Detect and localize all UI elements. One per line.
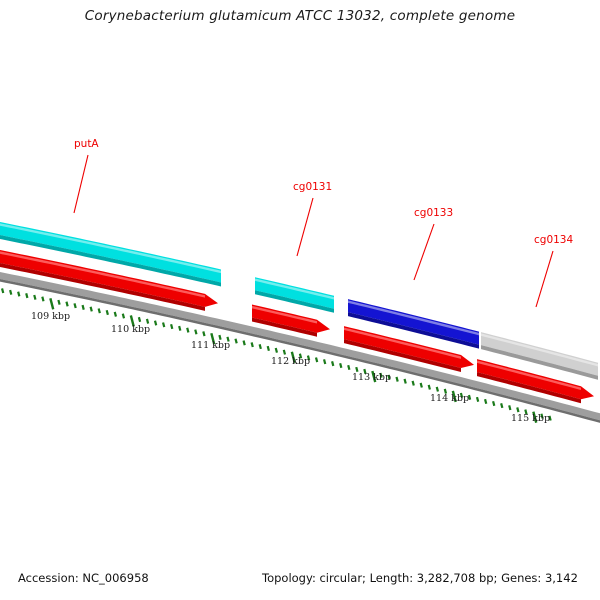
genome-map-canvas[interactable]: putAcg0131cg0133cg0134putAcg0131cg0133cg… bbox=[0, 0, 600, 600]
ruler-tick-minor bbox=[155, 321, 156, 326]
ruler-tick-minor bbox=[485, 399, 486, 404]
ruler-tick-minor bbox=[421, 383, 422, 388]
ruler-tick-minor bbox=[18, 292, 19, 297]
accession-label: Accession: NC_006958 bbox=[18, 571, 149, 585]
ruler-tick-minor bbox=[236, 339, 237, 344]
ruler-tick-minor bbox=[91, 307, 92, 312]
ruler-tick-minor bbox=[34, 295, 35, 300]
genome-viewer: Corynebacterium glutamicum ATCC 13032, c… bbox=[0, 0, 600, 600]
ruler-position-label: 115 kbp bbox=[511, 413, 550, 424]
ruler-position-label: 111 kbp bbox=[191, 340, 230, 351]
ruler-tick-minor bbox=[171, 324, 172, 329]
ruler-tick-major bbox=[50, 298, 53, 309]
ruler-position-label: 112 kbp bbox=[271, 356, 310, 367]
ruler-tick-minor bbox=[316, 357, 317, 362]
ruler-tick-minor bbox=[477, 397, 478, 402]
ruler-tick-minor bbox=[42, 297, 43, 302]
status-bar: Accession: NC_006958 Topology: circular;… bbox=[0, 571, 600, 595]
gene-label-leader bbox=[536, 251, 553, 307]
gene-label[interactable]: cg0133 bbox=[414, 207, 453, 219]
ruler-tick-minor bbox=[139, 317, 140, 322]
ruler-tick-minor bbox=[252, 342, 253, 347]
ruler-tick-minor bbox=[469, 395, 470, 400]
gene-label-leader bbox=[297, 198, 313, 256]
ruler-tick-minor bbox=[348, 365, 349, 370]
ruler-tick-minor bbox=[493, 401, 494, 406]
ruler-tick-minor bbox=[284, 350, 285, 355]
ruler-tick-minor bbox=[179, 326, 180, 331]
ruler-tick-minor bbox=[405, 379, 406, 384]
ruler-tick-minor bbox=[83, 305, 84, 310]
ruler-tick-minor bbox=[260, 344, 261, 349]
ruler-tick-minor bbox=[10, 290, 11, 295]
ruler-tick-minor bbox=[244, 341, 245, 346]
cds-track: putAcg0131cg0133cg0134 bbox=[0, 248, 594, 403]
ruler-tick-minor bbox=[324, 359, 325, 364]
ruler-tick-minor bbox=[99, 309, 100, 314]
gene-label-leader bbox=[74, 155, 88, 213]
ruler-tick-minor bbox=[115, 312, 116, 317]
ruler-tick-minor bbox=[413, 381, 414, 386]
genome-summary-label: Topology: circular; Length: 3,282,708 bp… bbox=[262, 571, 578, 585]
ruler-tick-minor bbox=[332, 361, 333, 366]
ruler-tick-minor bbox=[75, 303, 76, 308]
gene-feature[interactable]: cg0131 bbox=[255, 277, 334, 313]
ruler-tick-minor bbox=[268, 346, 269, 351]
ruler-tick-minor bbox=[509, 405, 510, 410]
ruler-tick-minor bbox=[397, 377, 398, 382]
ruler-tick-minor bbox=[437, 387, 438, 392]
ruler-tick-minor bbox=[501, 403, 502, 408]
gene-label[interactable]: putA bbox=[74, 138, 99, 150]
ruler-tick-minor bbox=[517, 407, 518, 412]
ruler-tick-minor bbox=[147, 319, 148, 324]
gene-label-leader bbox=[414, 224, 434, 280]
ruler-tick-minor bbox=[163, 322, 164, 327]
ruler-tick-minor bbox=[66, 302, 67, 307]
ruler-position-label: 113 kbp bbox=[352, 372, 391, 383]
gene-label[interactable]: cg0134 bbox=[534, 234, 573, 246]
ruler-tick-minor bbox=[187, 328, 188, 333]
ruler-position-label: 110 kbp bbox=[111, 324, 150, 335]
page-title: Corynebacterium glutamicum ATCC 13032, c… bbox=[0, 8, 600, 24]
ruler-tick-minor bbox=[195, 330, 196, 335]
ruler-tick-minor bbox=[429, 385, 430, 390]
ruler-tick-minor bbox=[276, 348, 277, 353]
ruler-tick-minor bbox=[219, 335, 220, 340]
ruler-tick-minor bbox=[203, 331, 204, 336]
ruler-position-label: 109 kbp bbox=[31, 311, 70, 322]
ruler-tick-minor bbox=[2, 288, 3, 293]
ruler-tick-minor bbox=[340, 363, 341, 368]
ruler-tick-minor bbox=[26, 293, 27, 298]
ruler-position-label: 114 kbp bbox=[430, 393, 469, 404]
ruler-tick-minor bbox=[123, 314, 124, 319]
ruler-tick-minor bbox=[58, 300, 59, 305]
ruler-tick-minor bbox=[107, 310, 108, 315]
gene-label[interactable]: cg0131 bbox=[293, 181, 332, 193]
